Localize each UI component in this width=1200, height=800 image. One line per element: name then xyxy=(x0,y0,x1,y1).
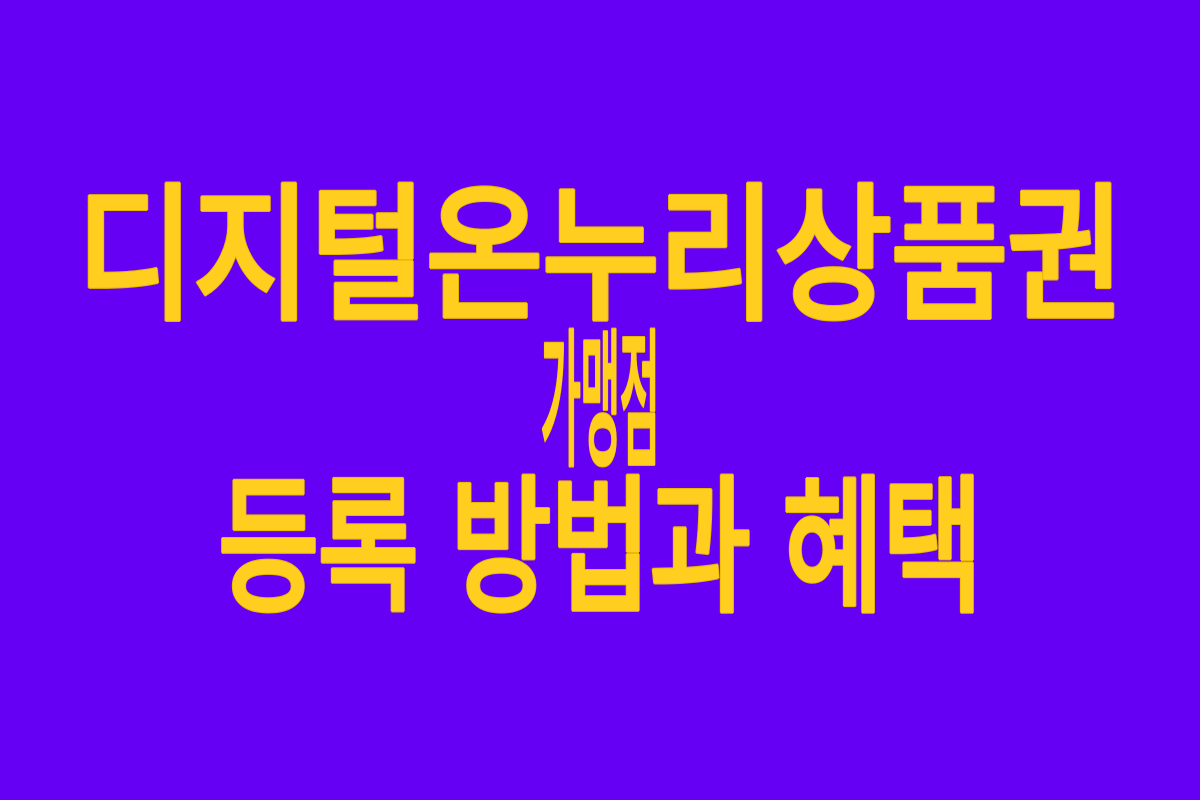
title-line-3-word-1: 등록 xyxy=(218,463,417,635)
title-line-3: 등록방법과혜택 xyxy=(136,480,1064,617)
page-title: 디지털온누리상품권 가맹점 등록방법과혜택 xyxy=(0,191,1200,615)
title-line-3-word-3: 혜택 xyxy=(782,463,981,635)
title-card: 디지털온누리상품권 가맹점 등록방법과혜택 xyxy=(0,0,1200,800)
title-line-3-word-2: 방법과 xyxy=(450,463,749,635)
title-line-1: 디지털온누리상품권 xyxy=(59,188,1141,325)
title-line-2: 가맹점 xyxy=(416,334,784,471)
